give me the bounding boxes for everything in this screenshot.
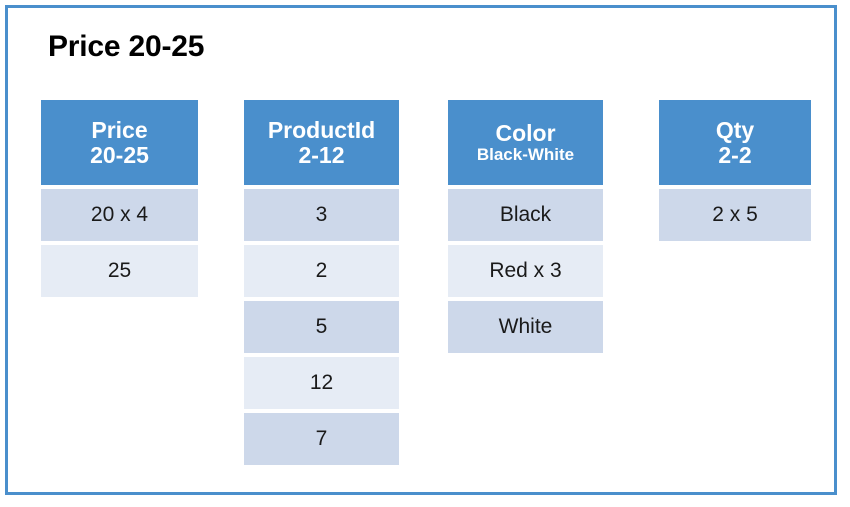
- cell[interactable]: White: [448, 301, 603, 353]
- column-header-range-price: 20-25: [90, 143, 149, 168]
- cell[interactable]: 12: [244, 357, 399, 409]
- column-productid: ProductId2-12325127: [244, 100, 399, 465]
- cell[interactable]: Red x 3: [448, 245, 603, 297]
- slide-canvas: Price 20-25 Price20-2520 x 425ProductId2…: [5, 5, 837, 495]
- cell[interactable]: 3: [244, 189, 399, 241]
- cell[interactable]: 25: [41, 245, 198, 297]
- cell[interactable]: 7: [244, 413, 399, 465]
- column-header-range-productid: 2-12: [298, 143, 344, 168]
- column-header-productid[interactable]: ProductId2-12: [244, 100, 399, 185]
- cell[interactable]: 2: [244, 245, 399, 297]
- column-header-title-color: Color: [495, 121, 555, 146]
- column-header-range-color: Black-White: [477, 146, 574, 164]
- cell[interactable]: 5: [244, 301, 399, 353]
- column-header-color[interactable]: ColorBlack-White: [448, 100, 603, 185]
- cell[interactable]: 2 x 5: [659, 189, 811, 241]
- cell[interactable]: Black: [448, 189, 603, 241]
- column-header-price[interactable]: Price20-25: [41, 100, 198, 185]
- cell[interactable]: 20 x 4: [41, 189, 198, 241]
- column-qty: Qty2-22 x 5: [659, 100, 811, 241]
- page-title: Price 20-25: [48, 30, 204, 64]
- column-header-title-price: Price: [91, 118, 147, 143]
- column-header-qty[interactable]: Qty2-2: [659, 100, 811, 185]
- column-header-title-qty: Qty: [716, 118, 754, 143]
- column-header-title-productid: ProductId: [268, 118, 375, 143]
- column-color: ColorBlack-WhiteBlackRed x 3White: [448, 100, 603, 353]
- column-header-range-qty: 2-2: [718, 143, 751, 168]
- column-price: Price20-2520 x 425: [41, 100, 198, 297]
